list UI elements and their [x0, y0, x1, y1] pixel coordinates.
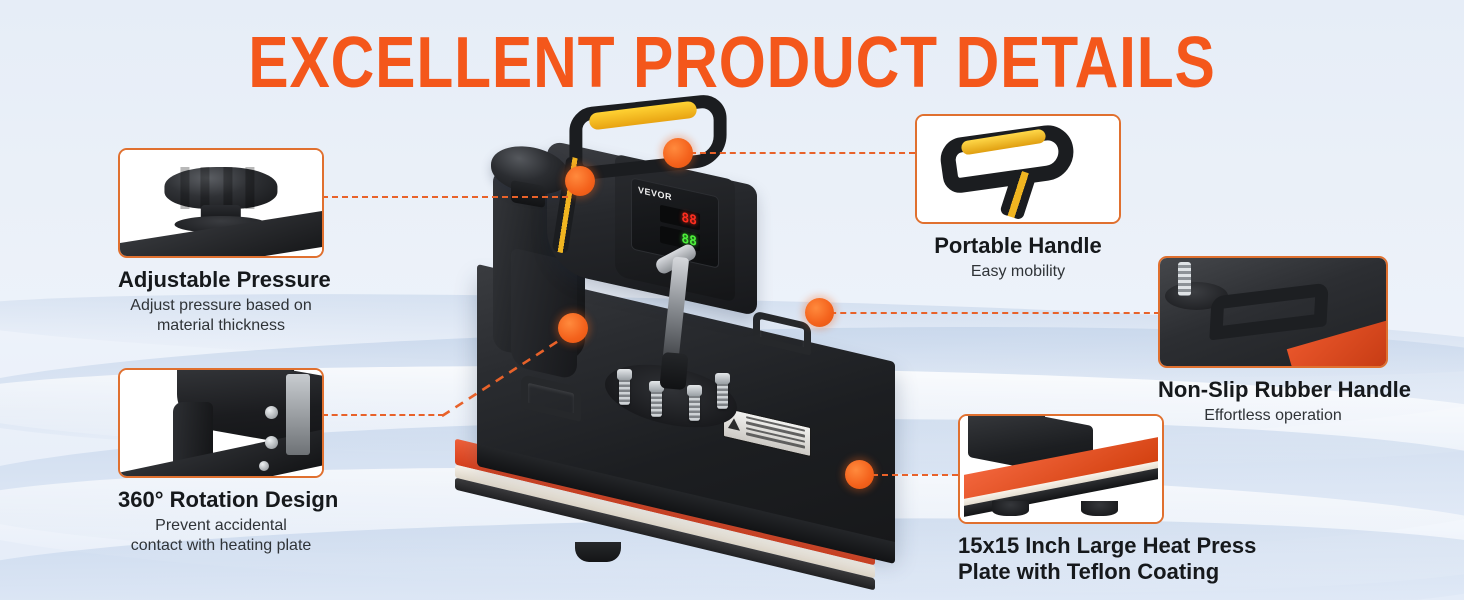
rod-head [659, 352, 688, 390]
callout-title: 360° Rotation Design [118, 487, 324, 513]
callout-title: Non-Slip Rubber Handle [1158, 377, 1388, 403]
hotspot-heat-press-plate[interactable] [845, 460, 874, 489]
callout-rubber-handle[interactable]: Non-Slip Rubber Handle Effortless operat… [1158, 256, 1388, 426]
connector-rubber-handle [820, 312, 1160, 314]
platen-nut [715, 373, 730, 384]
metal-bracket-shape [286, 374, 310, 455]
callout-subtitle: Effortless operation [1158, 406, 1388, 426]
connector-rotation-diagonal [440, 330, 570, 422]
knob-head-shape [164, 167, 277, 209]
callout-portable-handle[interactable]: Portable Handle Easy mobility [915, 114, 1121, 282]
pressure-knob-photo [118, 148, 324, 258]
callout-adjustable-pressure[interactable]: Adjustable Pressure Adjust pressure base… [118, 148, 324, 337]
foot-shape [1081, 501, 1117, 516]
platen-spring [619, 377, 630, 405]
callout-title: Adjustable Pressure [118, 267, 324, 293]
platen-spring [689, 393, 700, 421]
portable-d-handle[interactable] [563, 101, 749, 211]
callout-caption: Portable Handle Easy mobility [915, 233, 1121, 282]
connector-portable-handle [690, 152, 915, 154]
callout-subtitle: Easy mobility [915, 262, 1121, 282]
callout-caption: 15x15 Inch Large Heat Press Plate with T… [958, 533, 1164, 585]
foot-shape [992, 501, 1028, 516]
hotspot-rotation-design[interactable] [558, 313, 588, 343]
spring-shape [1178, 262, 1191, 296]
page-title: EXCELLENT PRODUCT DETAILS [117, 26, 1347, 102]
callout-title: 15x15 Inch Large Heat Press [958, 533, 1164, 559]
bolt-icon [265, 406, 278, 419]
callout-caption: Adjustable Pressure Adjust pressure base… [118, 267, 324, 337]
connector-adjustable-pressure [322, 196, 568, 198]
callout-caption: 360° Rotation Design Prevent accidental … [118, 487, 324, 557]
callout-heat-press-plate[interactable]: 15x15 Inch Large Heat Press Plate with T… [958, 414, 1164, 585]
swing-arm-photo [118, 368, 324, 478]
callout-title-line2: Plate with Teflon Coating [958, 559, 1164, 585]
callout-rotation-design[interactable]: 360° Rotation Design Prevent accidental … [118, 368, 324, 557]
heat-press-plate-photo [958, 414, 1164, 524]
callout-subtitle: Adjust pressure based on material thickn… [118, 296, 324, 337]
d-handle-photo [915, 114, 1121, 224]
hotspot-rubber-handle[interactable] [805, 298, 834, 327]
platen-spring [717, 381, 728, 409]
hotspot-portable-handle[interactable] [663, 138, 693, 168]
infographic-canvas: EXCELLENT PRODUCT DETAILS [0, 0, 1464, 600]
rubber-handle-photo [1158, 256, 1388, 368]
hotspot-adjustable-pressure[interactable] [565, 166, 595, 196]
connector-heat-press-plate [872, 474, 958, 476]
platen-nut [687, 385, 702, 396]
platen-nut [617, 369, 632, 380]
callout-subtitle: Prevent accidental contact with heating … [118, 516, 324, 557]
callout-title: Portable Handle [915, 233, 1121, 259]
callout-caption: Non-Slip Rubber Handle Effortless operat… [1158, 377, 1388, 426]
platen-spring [651, 389, 662, 417]
connector-rotation-horizontal [322, 414, 444, 416]
bolt-icon [265, 436, 278, 449]
machine-foot [575, 542, 621, 562]
